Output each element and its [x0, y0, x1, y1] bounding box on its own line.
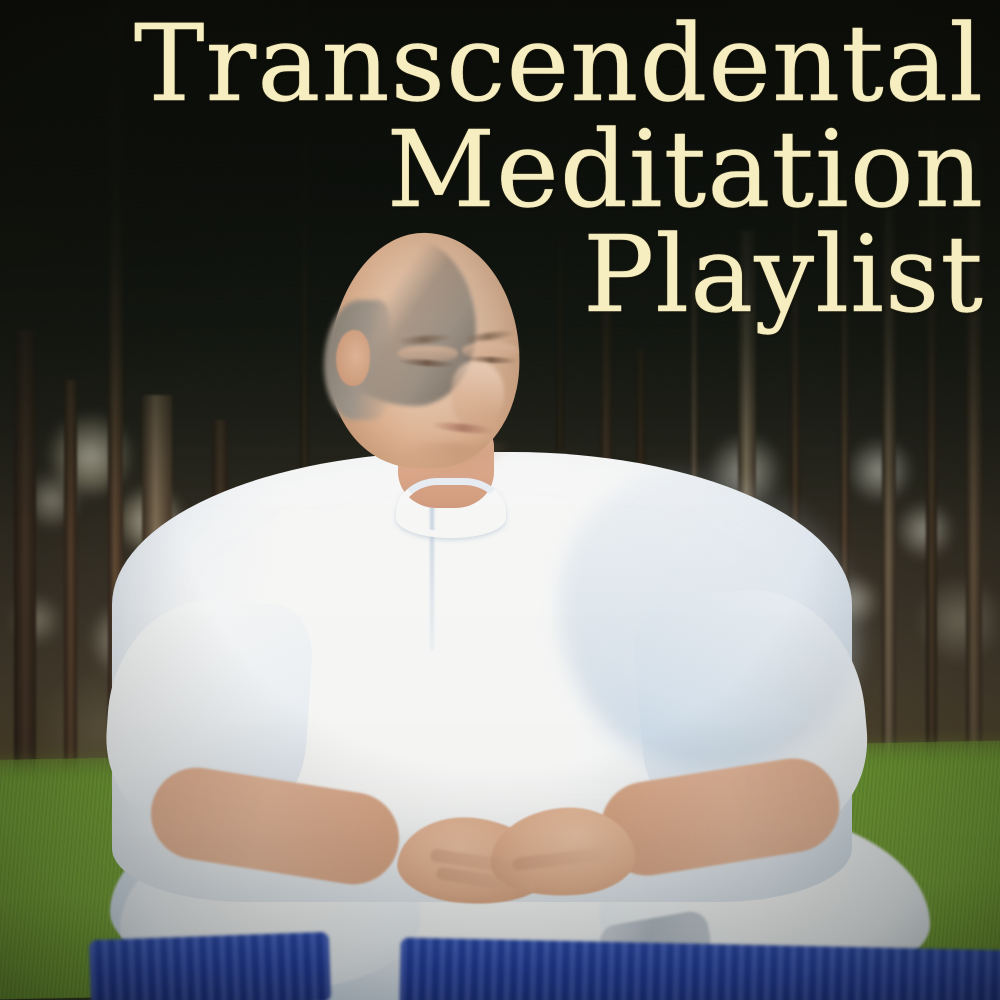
chin-shadow: [400, 442, 510, 472]
title-line-1: Transcendental: [24, 14, 984, 114]
cover-title: Transcendental Meditation Playlist: [24, 14, 984, 325]
album-cover-art: Transcendental Meditation Playlist: [0, 0, 1000, 1000]
blue-mat-icon: [89, 932, 331, 1000]
ear: [336, 330, 370, 386]
title-line-3: Playlist: [24, 225, 984, 325]
mandarin-collar: [396, 478, 506, 538]
title-line-2: Meditation: [24, 120, 984, 220]
